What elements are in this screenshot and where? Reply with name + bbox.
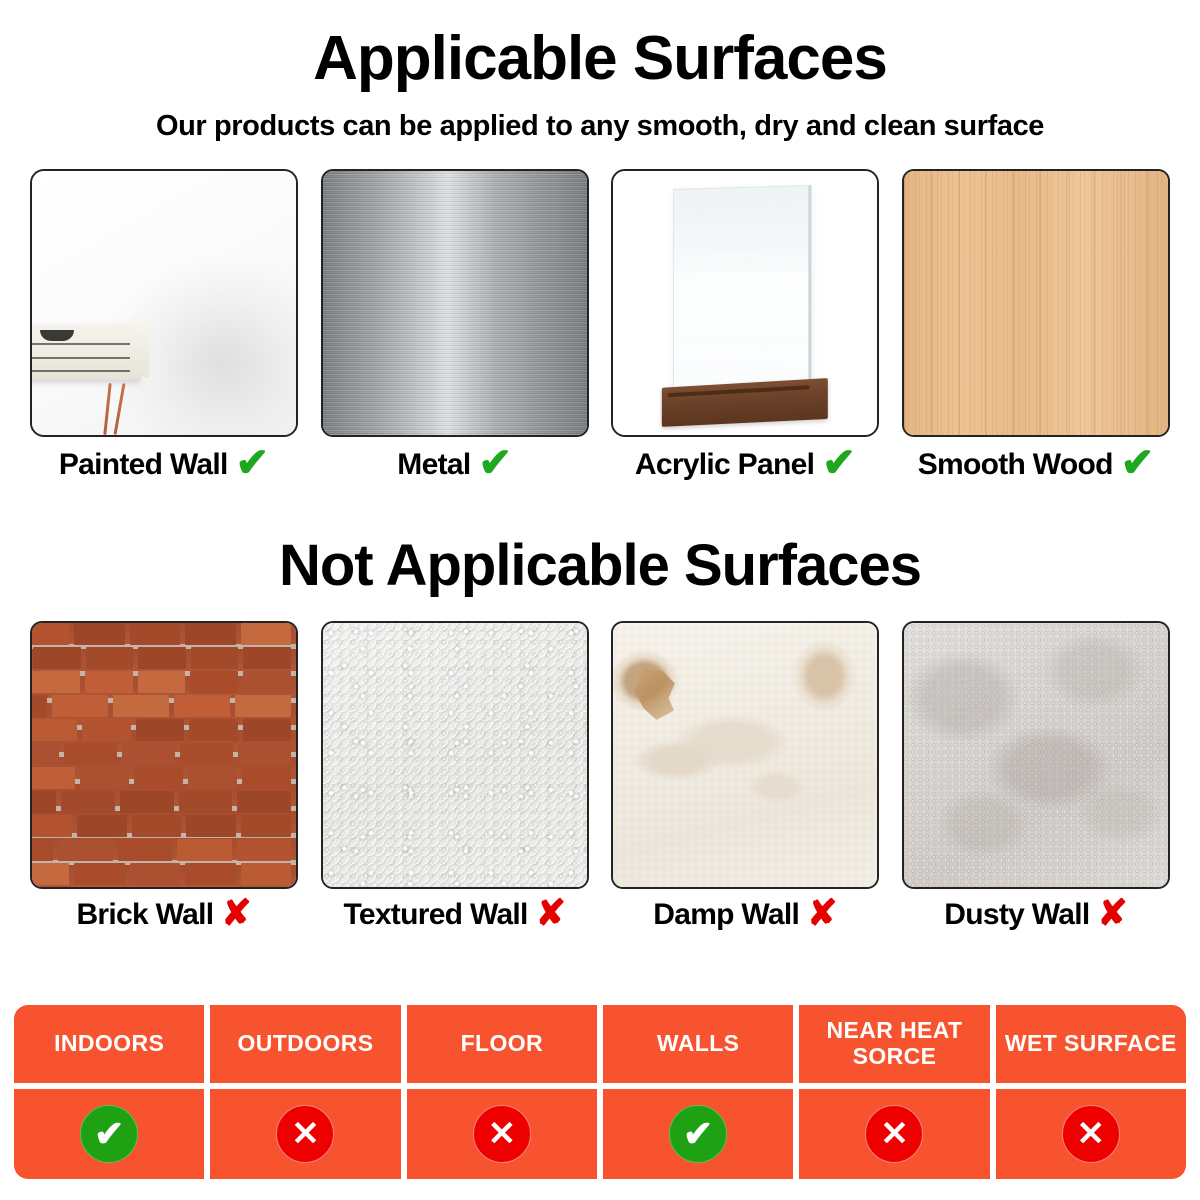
brick-course (32, 839, 296, 861)
section-title-not-applicable: Not Applicable Surfaces (0, 537, 1200, 595)
brick-unit (237, 839, 291, 861)
condition-value-indoors: ✔ (14, 1089, 204, 1179)
check-icon: ✔ (1121, 443, 1155, 483)
brick-course (32, 671, 296, 693)
brick-unit (185, 863, 236, 885)
surface-card-metal: Metal ✔ (321, 169, 589, 485)
condition-header-floor: FLOOR (407, 1005, 597, 1083)
stucco-texture (323, 623, 587, 887)
condition-header-outdoors: OUTDOORS (210, 1005, 400, 1083)
brick-unit (32, 695, 47, 717)
cross-badge-icon: ✕ (865, 1105, 923, 1163)
surface-label: Metal (397, 448, 470, 482)
brick-unit (191, 647, 239, 669)
brick-unit (32, 719, 77, 741)
brick-wall-photo (30, 621, 298, 889)
brick-unit (238, 743, 291, 765)
brick-unit (86, 647, 134, 669)
brick-unit (120, 791, 174, 813)
brick-unit (138, 671, 186, 693)
brushed-metal-texture (323, 171, 587, 435)
brick-unit (85, 671, 133, 693)
brick-unit (235, 695, 291, 717)
condition-value-walls: ✔ (603, 1089, 793, 1179)
condition-header-indoors: INDOORS (14, 1005, 204, 1083)
wood-grain-texture (904, 171, 1168, 435)
brick-course (32, 695, 296, 717)
brick-course (32, 623, 296, 645)
brick-unit (80, 767, 129, 789)
brick-unit (243, 647, 291, 669)
conditions-table: INDOORS OUTDOORS FLOOR WALLS NEAR HEAT S… (14, 1005, 1186, 1179)
brick-unit (180, 743, 233, 765)
caption-dusty-wall: Dusty Wall ✘ (944, 897, 1127, 933)
textured-wall-photo (321, 621, 589, 889)
caption-metal: Metal ✔ (397, 445, 512, 485)
brick-course (32, 767, 296, 789)
brick-unit (33, 647, 81, 669)
surface-card-acrylic-panel: Acrylic Panel ✔ (611, 169, 879, 485)
surface-card-dusty-wall: Dusty Wall ✘ (902, 621, 1170, 933)
brick-unit (32, 623, 69, 645)
acrylic-panel-photo (611, 169, 879, 437)
cross-icon: ✘ (221, 895, 251, 931)
surface-card-painted-wall: Painted Wall ✔ (30, 169, 298, 485)
cross-icon: ✘ (1098, 895, 1128, 931)
brick-unit (241, 623, 292, 645)
condition-value-outdoors: ✕ (210, 1089, 400, 1179)
page-subtitle: Our products can be applied to any smoot… (0, 110, 1200, 143)
conditions-header-row: INDOORS OUTDOORS FLOOR WALLS NEAR HEAT S… (14, 1005, 1186, 1083)
check-badge-icon: ✔ (80, 1105, 138, 1163)
cross-icon: ✘ (536, 895, 566, 931)
brick-unit (118, 839, 172, 861)
brick-unit (242, 767, 291, 789)
brick-course (32, 863, 296, 885)
surface-card-damp-wall: Damp Wall ✘ (611, 621, 879, 933)
brick-unit (32, 743, 59, 765)
brick-unit (189, 719, 237, 741)
cross-badge-icon: ✕ (1062, 1105, 1120, 1163)
brick-unit (136, 719, 184, 741)
check-icon: ✔ (236, 443, 270, 483)
brick-unit (32, 863, 69, 885)
brick-unit (241, 815, 291, 837)
caption-textured-wall: Textured Wall ✘ (343, 897, 565, 933)
condition-value-near-heat-sorce: ✕ (799, 1089, 989, 1179)
smooth-wood-photo (902, 169, 1170, 437)
surface-label: Damp Wall (653, 898, 799, 932)
brick-unit (185, 623, 236, 645)
brick-unit (241, 863, 292, 885)
surface-label: Brick Wall (76, 898, 213, 932)
not-applicable-surfaces-row: Brick Wall ✘ Textured Wall ✘ Damp Wall ✘ (0, 621, 1200, 933)
caption-damp-wall: Damp Wall ✘ (653, 897, 837, 933)
applicable-surfaces-row: Painted Wall ✔ Metal ✔ Acrylic Panel (0, 169, 1200, 485)
brick-unit (32, 791, 56, 813)
damp-wall-photo (611, 621, 879, 889)
surface-card-brick-wall: Brick Wall ✘ (30, 621, 298, 933)
console-table-shape (30, 324, 138, 380)
brick-unit (82, 719, 130, 741)
damp-texture (613, 623, 877, 887)
brick-unit (138, 647, 186, 669)
brick-unit (61, 791, 115, 813)
brick-course (32, 647, 296, 669)
brick-unit (243, 719, 291, 741)
brick-course (32, 815, 296, 837)
painted-wall-photo (30, 169, 298, 437)
brick-unit (179, 791, 233, 813)
surface-label: Painted Wall (59, 448, 228, 482)
brick-unit (32, 767, 75, 789)
cross-badge-icon: ✕ (473, 1105, 531, 1163)
conditions-value-row: ✔ ✕ ✕ ✔ ✕ ✕ (14, 1089, 1186, 1179)
wooden-base-shape (662, 378, 828, 427)
brushed-metal-photo (321, 169, 589, 437)
page-title: Applicable Surfaces (0, 0, 1200, 90)
brick-unit (32, 839, 53, 861)
condition-header-near-heat-sorce: NEAR HEAT SORCE (799, 1005, 989, 1083)
condition-header-wet-surface: WET SURFACE (996, 1005, 1186, 1083)
brick-unit (177, 839, 231, 861)
surface-label: Smooth Wood (918, 448, 1113, 482)
cross-badge-icon: ✕ (276, 1105, 334, 1163)
brick-unit (122, 743, 175, 765)
surface-card-textured-wall: Textured Wall ✘ (321, 621, 589, 933)
brick-unit (130, 623, 181, 645)
brick-unit (64, 743, 117, 765)
surface-label: Textured Wall (343, 898, 527, 932)
caption-acrylic-panel: Acrylic Panel ✔ (635, 445, 856, 485)
caption-brick-wall: Brick Wall ✘ (76, 897, 251, 933)
check-badge-icon: ✔ (669, 1105, 727, 1163)
cross-icon: ✘ (807, 895, 837, 931)
brick-texture (32, 623, 296, 887)
brick-unit (77, 815, 127, 837)
brick-unit (174, 695, 230, 717)
brick-unit (32, 815, 72, 837)
condition-value-floor: ✕ (407, 1089, 597, 1179)
brick-unit (74, 863, 125, 885)
brick-unit (134, 767, 183, 789)
caption-painted-wall: Painted Wall ✔ (59, 445, 269, 485)
condition-value-wet-surface: ✕ (996, 1089, 1186, 1179)
infographic-page: Applicable Surfaces Our products can be … (0, 0, 1200, 1200)
brick-course (32, 743, 296, 765)
dusty-wall-photo (902, 621, 1170, 889)
brick-unit (130, 863, 181, 885)
brick-unit (113, 695, 169, 717)
painted-wall-texture (32, 171, 296, 435)
brick-unit (132, 815, 182, 837)
dusty-texture (904, 623, 1168, 887)
check-icon: ✔ (478, 443, 512, 483)
brick-unit (52, 695, 108, 717)
check-icon: ✔ (822, 443, 856, 483)
brick-unit (237, 791, 291, 813)
brick-unit (186, 815, 236, 837)
surface-card-smooth-wood: Smooth Wood ✔ (902, 169, 1170, 485)
condition-header-walls: WALLS (603, 1005, 793, 1083)
drawer-handle-shape (40, 330, 74, 341)
acrylic-sheet-shape (673, 185, 811, 407)
brick-course (32, 791, 296, 813)
brick-unit (190, 671, 238, 693)
surface-label: Dusty Wall (944, 898, 1089, 932)
brick-unit (188, 767, 237, 789)
brick-unit (58, 839, 112, 861)
brick-unit (243, 671, 291, 693)
brick-unit (32, 671, 80, 693)
caption-smooth-wood: Smooth Wood ✔ (918, 445, 1155, 485)
brick-unit (74, 623, 125, 645)
brick-course (32, 719, 296, 741)
surface-label: Acrylic Panel (635, 448, 814, 482)
